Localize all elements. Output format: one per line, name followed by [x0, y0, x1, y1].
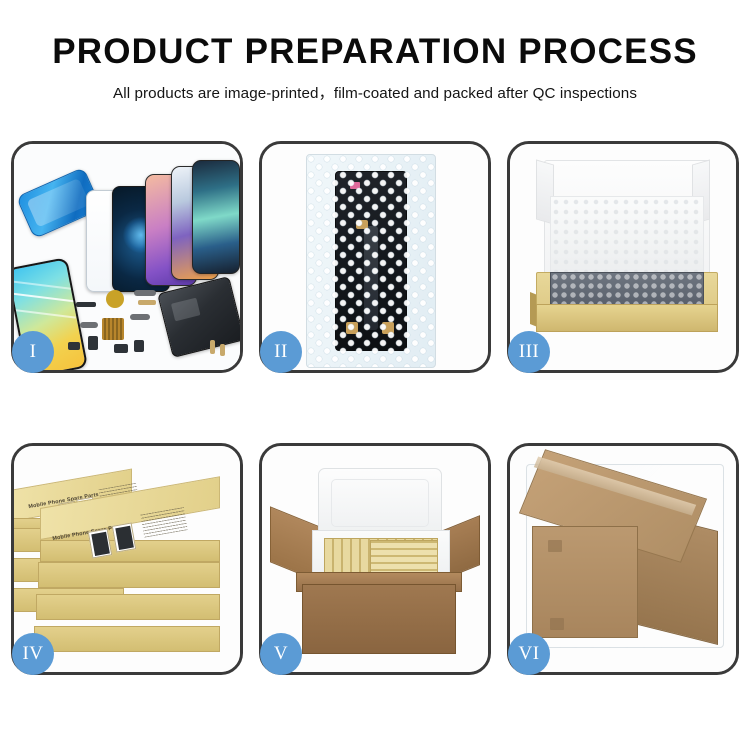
- part-button-icon: [134, 340, 144, 352]
- foam-box-lid-icon: [318, 468, 442, 538]
- box-side-face: [34, 626, 220, 652]
- kraft-box-front-3: [36, 590, 218, 626]
- step-badge-5: V: [260, 633, 302, 675]
- grey-bubble-wrap-icon: [550, 272, 704, 308]
- page-title: PRODUCT PREPARATION PROCESS: [0, 34, 750, 71]
- step-panel-6[interactable]: VI: [507, 443, 739, 675]
- step-panel-1[interactable]: I: [11, 141, 243, 373]
- step-badge-3: III: [508, 331, 550, 373]
- foam-sheet-icon: [550, 196, 704, 274]
- part-speaker-coil-icon: [106, 290, 124, 308]
- phone-teal-screen-icon: [192, 160, 240, 274]
- box-side-face: [38, 562, 220, 588]
- step-badge-2: II: [260, 331, 302, 373]
- carton-front-icon: [302, 584, 456, 654]
- process-step-grid: I II: [11, 141, 739, 675]
- bubble-texture-icon: [307, 155, 435, 367]
- part-screw-a-icon: [210, 340, 215, 354]
- step-panel-3[interactable]: III: [507, 141, 739, 373]
- bubble-wrap-bag-icon: [306, 154, 436, 368]
- part-earpiece-icon: [76, 302, 96, 307]
- step-badge-4: IV: [12, 633, 54, 675]
- carton-tab-upper-icon: [548, 540, 562, 552]
- part-flex-cable-a-icon: [134, 290, 156, 296]
- tray-front-panel-icon: [536, 304, 718, 332]
- step-image-2: [262, 144, 488, 370]
- step-badge-6: VI: [508, 633, 550, 675]
- part-camera-icon: [114, 344, 128, 353]
- step-image-4: Mobile Phone Spare Parts Mobile Phone Sp…: [14, 446, 240, 672]
- step-panel-5[interactable]: V: [259, 443, 491, 675]
- part-connector-icon: [88, 336, 98, 350]
- box-side-face: [36, 594, 220, 620]
- kraft-box-front-4: [34, 622, 218, 658]
- part-shield-mesh-icon: [102, 318, 124, 340]
- part-screw-b-icon: [220, 344, 225, 356]
- part-flex-cable-b-icon: [138, 300, 156, 305]
- step-image-6: [510, 446, 736, 672]
- step-image-3: [510, 144, 736, 370]
- part-vibrator-icon: [68, 342, 80, 350]
- step-image-1: [14, 144, 240, 370]
- carton-tab-lower-icon: [550, 618, 564, 630]
- step-panel-4[interactable]: Mobile Phone Spare Parts Mobile Phone Sp…: [11, 443, 243, 675]
- part-flex-cable-d-icon: [130, 314, 150, 320]
- kraft-box-front-2: [38, 558, 218, 594]
- page-subtitle: All products are image-printed，film-coat…: [0, 81, 750, 103]
- step-image-5: [262, 446, 488, 672]
- step-panel-2[interactable]: II: [259, 141, 491, 373]
- part-flex-cable-c-icon: [80, 322, 98, 328]
- page-header: PRODUCT PREPARATION PROCESS All products…: [0, 0, 750, 103]
- step-badge-1: I: [12, 331, 54, 373]
